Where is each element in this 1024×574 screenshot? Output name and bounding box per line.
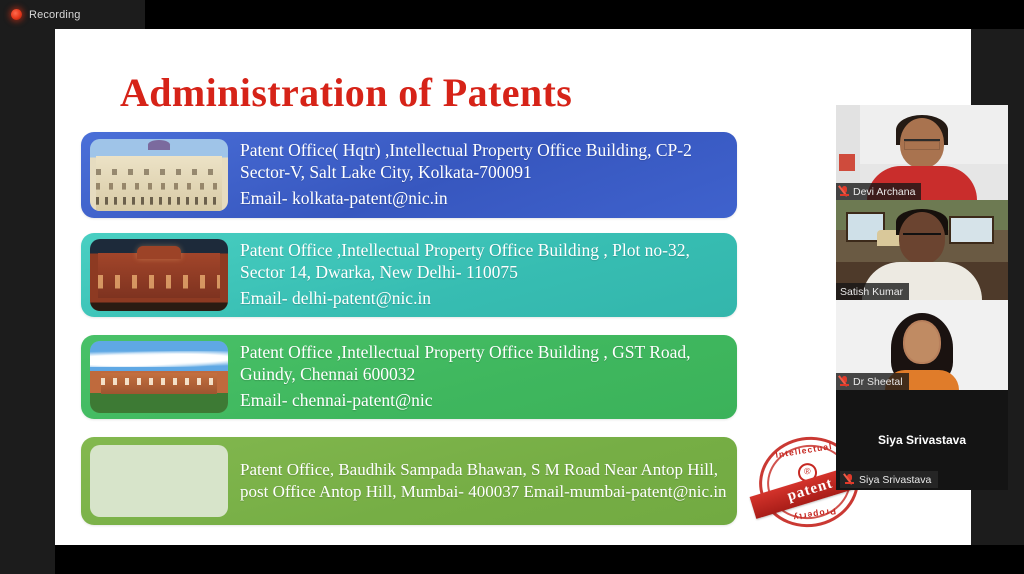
delhi-patent-office-photo <box>90 239 228 311</box>
video-tile-dr-sheetal[interactable]: Dr Sheetal <box>836 300 1008 390</box>
record-dot-icon <box>11 9 22 20</box>
office-row-mumbai: Patent Office, Baudhik Sampada Bhawan, S… <box>81 437 737 525</box>
office-email: Email- delhi-patent@nic.in <box>240 288 728 310</box>
participant-name: Dr Sheetal <box>853 376 903 388</box>
office-email: Email- chennai-patent@nic <box>240 390 728 412</box>
chennai-patent-office-photo <box>90 341 228 413</box>
office-row-delhi: Patent Office ,Intellectual Property Off… <box>81 233 737 317</box>
mic-muted-icon <box>845 474 854 486</box>
blank-photo-placeholder <box>90 445 228 517</box>
recording-label: Recording <box>29 9 81 21</box>
office-address: Patent Office( Hqtr) ,Intellectual Prope… <box>240 140 728 183</box>
office-row-text: Patent Office ,Intellectual Property Off… <box>240 342 728 412</box>
meeting-window: Recording Administration of Patents Pate… <box>0 0 1024 574</box>
office-row-text: Patent Office, Baudhik Sampada Bhawan, S… <box>240 459 728 503</box>
office-address: Patent Office, Baudhik Sampada Bhawan, S… <box>240 459 728 503</box>
participant-name: Siya Srivastava <box>859 474 931 486</box>
top-chrome-bar <box>145 0 1024 29</box>
office-row-text: Patent Office ,Intellectual Property Off… <box>240 240 728 310</box>
tile-namebar: Satish Kumar <box>836 283 909 300</box>
office-row-chennai: Patent Office ,Intellectual Property Off… <box>81 335 737 419</box>
bottom-chrome-bar <box>55 545 1024 574</box>
kolkata-patent-office-photo <box>90 139 228 211</box>
office-address: Patent Office ,Intellectual Property Off… <box>240 342 728 385</box>
participant-name: Satish Kumar <box>840 286 903 298</box>
shared-slide: Administration of Patents Patent Office(… <box>55 29 971 545</box>
video-tile-satish-kumar[interactable]: Satish Kumar <box>836 200 1008 300</box>
video-tile-devi-archana[interactable]: Devi Archana <box>836 105 1008 200</box>
office-address: Patent Office ,Intellectual Property Off… <box>240 240 728 283</box>
tile-namebar: Devi Archana <box>836 183 921 200</box>
page-title: Administration of Patents <box>120 69 572 116</box>
mic-muted-icon <box>840 186 849 198</box>
office-row-kolkata: Patent Office( Hqtr) ,Intellectual Prope… <box>81 132 737 218</box>
mic-muted-icon <box>840 376 849 388</box>
left-chrome-bar <box>0 0 55 574</box>
office-email: Email- kolkata-patent@nic.in <box>240 188 728 210</box>
self-display-name: Siya Srivastava <box>836 425 1008 455</box>
tile-namebar: Dr Sheetal <box>836 373 909 390</box>
office-row-text: Patent Office( Hqtr) ,Intellectual Prope… <box>240 140 728 210</box>
recording-indicator[interactable]: Recording <box>0 0 145 29</box>
self-namebar: Siya Srivastava <box>840 471 938 488</box>
participant-name: Devi Archana <box>853 186 915 198</box>
